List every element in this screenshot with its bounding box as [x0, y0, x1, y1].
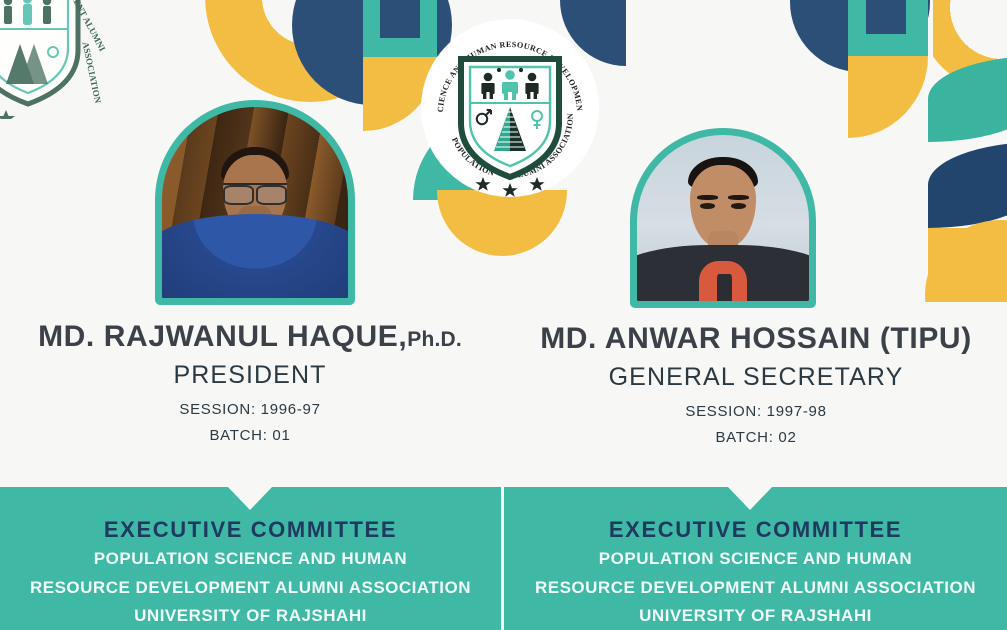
member-role-general-secretary: GENERAL SECRETARY: [505, 363, 1007, 392]
footer-line3-left: UNIVERSITY OF RAJSHAHI: [0, 604, 501, 627]
footer-line2-left: RESOURCE DEVELOPMENT ALUMNI ASSOCIATION: [0, 576, 501, 599]
member-name-general-secretary: MD. ANWAR HOSSAIN (TIPU): [505, 322, 1007, 357]
footer-line3-right: UNIVERSITY OF RAJSHAHI: [504, 604, 1007, 627]
navy-inner-square-center: [380, 0, 420, 38]
member-name-president: MD. RAJWANUL HAQUE,Ph.D.: [0, 320, 500, 355]
member-session-general-secretary: SESSION: 1997-98: [505, 400, 1007, 423]
yellow-quarter-right: [848, 56, 928, 138]
footer-line1-right: POPULATION SCIENCE AND HUMAN: [504, 547, 1007, 570]
member-info-general-secretary: MD. ANWAR HOSSAIN (TIPU) GENERAL SECRETA…: [505, 322, 1007, 449]
association-logo-badge: SCIENCE AND HUMAN RESOURCE DEVELOPMENT P…: [421, 19, 599, 197]
footer-panel-right: EXECUTIVE COMMITTEE POPULATION SCIENCE A…: [504, 487, 1007, 630]
yellow-half-circle-below-badge: [437, 190, 567, 256]
member-info-president: MD. RAJWANUL HAQUE,Ph.D. PRESIDENT SESSI…: [0, 320, 500, 447]
member-role-president: PRESIDENT: [0, 361, 500, 390]
poster-canvas: RCE DEVELOP MENT ALUMNI ASSOCIATION SCIE…: [0, 0, 1007, 630]
navy-leaf-shape: [928, 142, 1007, 228]
member-batch-general-secretary: BATCH: 02: [505, 426, 1007, 449]
navy-inner-square-right: [866, 0, 906, 34]
footer-notch-right: [727, 486, 773, 510]
watermark-logo: RCE DEVELOP MENT ALUMNI ASSOCIATION: [0, 0, 108, 119]
footer-title-left: EXECUTIVE COMMITTEE: [0, 518, 501, 542]
footer-title-right: EXECUTIVE COMMITTEE: [504, 518, 1007, 542]
footer-panels: EXECUTIVE COMMITTEE POPULATION SCIENCE A…: [0, 487, 1007, 630]
portrait-image-president: [162, 107, 348, 298]
footer-notch-left: [227, 486, 273, 510]
member-session-president: SESSION: 1996-97: [0, 398, 500, 421]
member-name-suffix-president: Ph.D.: [407, 328, 462, 351]
footer-line1-left: POPULATION SCIENCE AND HUMAN: [0, 547, 501, 570]
footer-line2-right: RESOURCE DEVELOPMENT ALUMNI ASSOCIATION: [504, 576, 1007, 599]
portrait-frame-general-secretary: [630, 128, 816, 308]
portrait-image-general-secretary: [637, 135, 809, 301]
member-batch-president: BATCH: 01: [0, 424, 500, 447]
portrait-frame-president: [155, 100, 355, 305]
footer-panel-left: EXECUTIVE COMMITTEE POPULATION SCIENCE A…: [0, 487, 501, 630]
